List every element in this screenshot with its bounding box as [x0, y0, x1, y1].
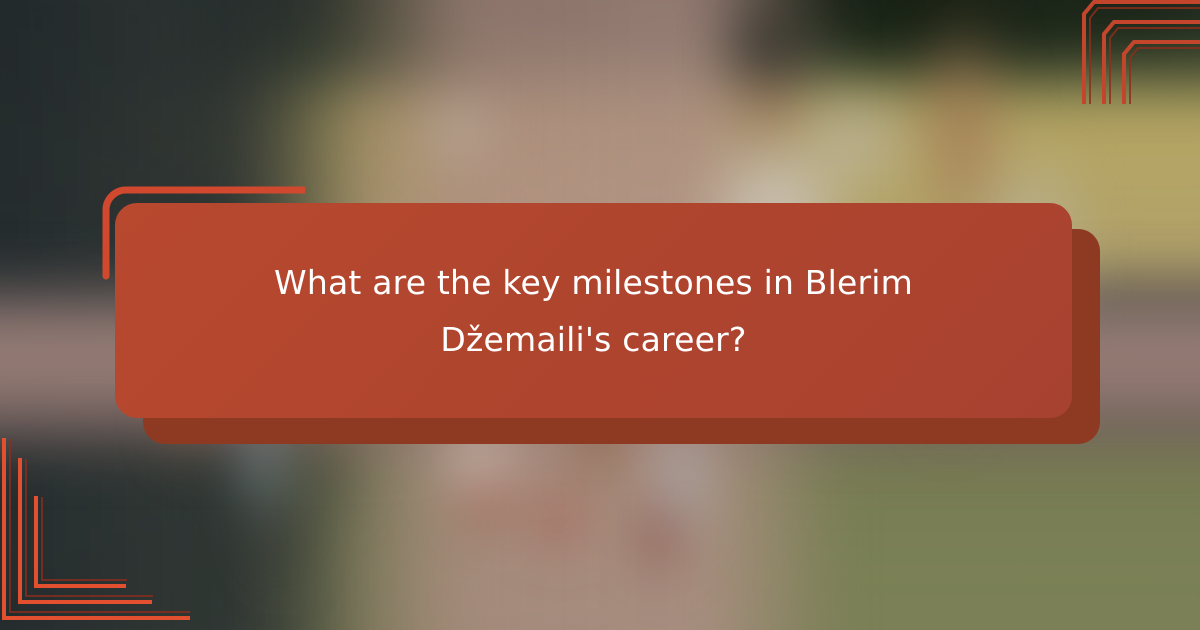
question-title: What are the key milestones in Blerim Dž… — [224, 254, 964, 368]
question-card: What are the key milestones in Blerim Dž… — [115, 203, 1072, 418]
social-card-canvas: What are the key milestones in Blerim Dž… — [0, 0, 1200, 630]
